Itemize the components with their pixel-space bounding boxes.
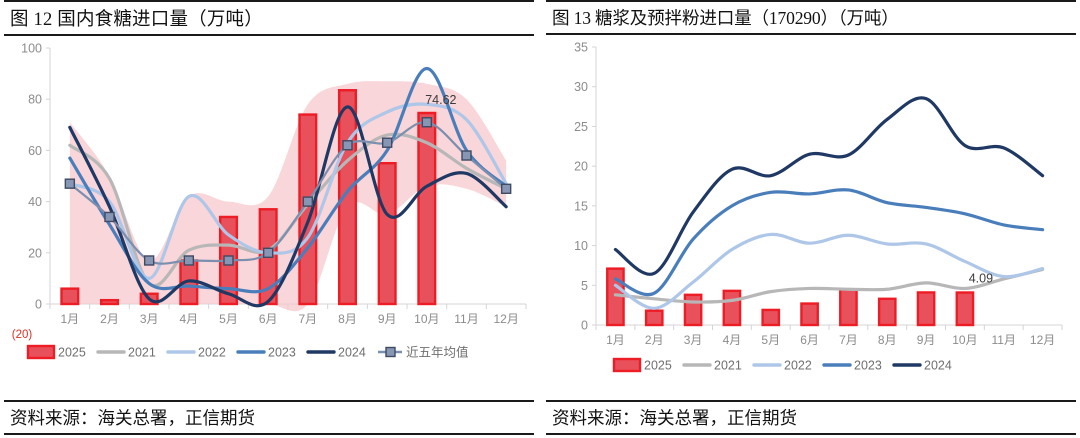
figure-13-title: 图 13 糖浆及预拌粉进口量（170290）（万吨） bbox=[552, 5, 1076, 30]
svg-text:3月: 3月 bbox=[140, 312, 159, 326]
svg-text:74.62: 74.62 bbox=[425, 93, 456, 107]
svg-text:10月: 10月 bbox=[414, 312, 439, 326]
svg-text:5月: 5月 bbox=[761, 333, 780, 347]
figure-13-header: 图 13 糖浆及预拌粉进口量（170290）（万吨） bbox=[546, 0, 1076, 35]
svg-text:11月: 11月 bbox=[454, 312, 478, 326]
svg-text:2021: 2021 bbox=[128, 346, 156, 360]
svg-text:9月: 9月 bbox=[378, 312, 397, 326]
figure-12-footer: 资料来源：海关总署，正信期货 bbox=[4, 400, 534, 435]
svg-text:30: 30 bbox=[574, 80, 588, 94]
svg-text:5月: 5月 bbox=[219, 312, 238, 326]
figure-12-title: 图 12 国内食糖进口量（万吨） bbox=[10, 5, 534, 31]
svg-text:40: 40 bbox=[28, 195, 42, 209]
svg-text:0: 0 bbox=[35, 298, 42, 312]
svg-text:10月: 10月 bbox=[952, 333, 977, 347]
figure-12-source: 资料来源：海关总署，正信期货 bbox=[10, 405, 534, 430]
svg-text:10: 10 bbox=[574, 239, 588, 253]
svg-text:60: 60 bbox=[28, 144, 42, 158]
svg-text:100: 100 bbox=[21, 42, 42, 56]
figure-13-svg: 051015202530351月2月3月4月5月6月7月8月9月10月11月12… bbox=[546, 35, 1074, 385]
svg-text:2025: 2025 bbox=[58, 346, 86, 360]
figure-13-chart: 051015202530351月2月3月4月5月6月7月8月9月10月11月12… bbox=[546, 35, 1076, 385]
svg-text:2月: 2月 bbox=[645, 333, 664, 347]
svg-text:3月: 3月 bbox=[684, 333, 703, 347]
svg-text:12月: 12月 bbox=[493, 312, 518, 326]
svg-text:(20): (20) bbox=[12, 329, 33, 341]
svg-text:15: 15 bbox=[574, 199, 588, 213]
svg-text:6月: 6月 bbox=[259, 312, 278, 326]
svg-text:25: 25 bbox=[574, 120, 588, 134]
svg-text:1月: 1月 bbox=[60, 312, 79, 326]
figure-13-source: 资料来源：海关总署，正信期货 bbox=[552, 405, 1076, 430]
svg-text:1月: 1月 bbox=[606, 333, 625, 347]
svg-text:2022: 2022 bbox=[784, 359, 812, 373]
svg-text:2月: 2月 bbox=[100, 312, 119, 326]
svg-text:8月: 8月 bbox=[338, 312, 357, 326]
svg-text:20: 20 bbox=[574, 160, 588, 174]
svg-text:5: 5 bbox=[581, 279, 588, 293]
svg-text:9月: 9月 bbox=[917, 333, 936, 347]
svg-text:2022: 2022 bbox=[198, 346, 226, 360]
svg-text:4.09: 4.09 bbox=[969, 272, 993, 286]
svg-text:2023: 2023 bbox=[854, 359, 882, 373]
svg-text:6月: 6月 bbox=[800, 333, 819, 347]
svg-text:7月: 7月 bbox=[298, 312, 317, 326]
svg-text:2023: 2023 bbox=[268, 346, 296, 360]
svg-text:2021: 2021 bbox=[714, 359, 742, 373]
svg-text:20: 20 bbox=[28, 246, 42, 260]
svg-text:12月: 12月 bbox=[1030, 333, 1055, 347]
figure-12-svg: 0204060801001月2月3月4月5月6月7月8月9月10月11月12月7… bbox=[4, 36, 534, 386]
svg-text:近五年均值: 近五年均值 bbox=[406, 345, 469, 360]
svg-text:0: 0 bbox=[581, 319, 588, 333]
svg-text:4月: 4月 bbox=[723, 333, 742, 347]
figure-13-footer: 资料来源：海关总署，正信期货 bbox=[546, 400, 1076, 435]
svg-text:80: 80 bbox=[28, 93, 42, 107]
figure-13-panel: 图 13 糖浆及预拌粉进口量（170290）（万吨） 0510152025303… bbox=[540, 0, 1080, 438]
svg-text:8月: 8月 bbox=[878, 333, 897, 347]
svg-text:11月: 11月 bbox=[992, 333, 1016, 347]
svg-text:4月: 4月 bbox=[179, 312, 198, 326]
svg-text:7月: 7月 bbox=[839, 333, 858, 347]
figures-page: 图 12 国内食糖进口量（万吨） 0204060801001月2月3月4月5月6… bbox=[0, 0, 1080, 438]
svg-text:2024: 2024 bbox=[338, 346, 366, 360]
figure-12-chart: 0204060801001月2月3月4月5月6月7月8月9月10月11月12月7… bbox=[4, 36, 534, 386]
svg-text:35: 35 bbox=[574, 41, 588, 55]
figure-12-panel: 图 12 国内食糖进口量（万吨） 0204060801001月2月3月4月5月6… bbox=[0, 0, 540, 438]
figure-12-header: 图 12 国内食糖进口量（万吨） bbox=[4, 0, 534, 36]
svg-text:2024: 2024 bbox=[924, 359, 952, 373]
svg-text:2025: 2025 bbox=[644, 359, 672, 373]
